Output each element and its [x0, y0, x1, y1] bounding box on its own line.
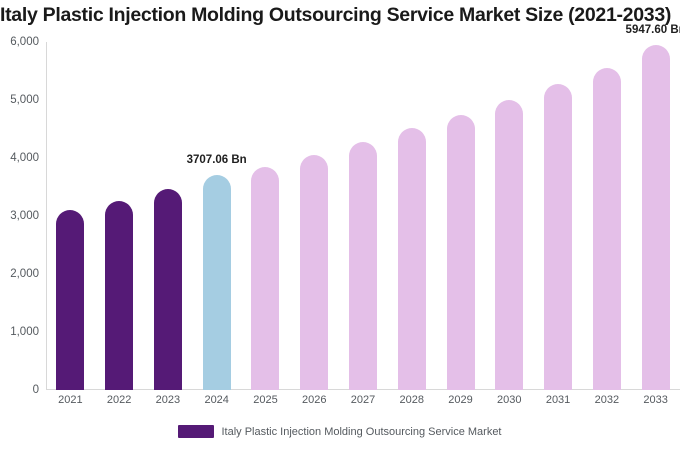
- bar-2029[interactable]: [447, 115, 475, 391]
- legend-swatch-icon: [178, 425, 214, 438]
- bar-2021[interactable]: [56, 210, 84, 390]
- chart-title: Italy Plastic Injection Molding Outsourc…: [0, 4, 680, 26]
- bar-2026[interactable]: [300, 155, 328, 390]
- y-axis-tick-label: 0: [33, 384, 39, 396]
- x-axis-tick-label: 2032: [595, 394, 619, 406]
- legend-item[interactable]: Italy Plastic Injection Molding Outsourc…: [178, 425, 501, 438]
- bar-slot: [251, 42, 279, 390]
- x-axis-tick-label: 2026: [302, 394, 326, 406]
- bar-value-label: 3707.06 Bn: [187, 154, 247, 166]
- bar-2025[interactable]: [251, 167, 279, 390]
- bar-2030[interactable]: [495, 100, 523, 390]
- bar-slot: [349, 42, 377, 390]
- bar-2032[interactable]: [593, 68, 621, 390]
- bar-2022[interactable]: [105, 201, 133, 390]
- y-axis-tick-label: 1,000: [10, 326, 39, 338]
- x-axis-tick-label: 2027: [351, 394, 375, 406]
- x-axis-tick-label: 2028: [400, 394, 424, 406]
- bar-slot: [154, 42, 182, 390]
- x-axis-tick-label: 2022: [107, 394, 131, 406]
- y-axis-tick-label: 5,000: [10, 94, 39, 106]
- bar-slot: [105, 42, 133, 390]
- legend-label: Italy Plastic Injection Molding Outsourc…: [221, 426, 501, 438]
- bar-value-label: 5947.60 Bn: [626, 24, 680, 36]
- bar-2028[interactable]: [398, 128, 426, 390]
- bar-2027[interactable]: [349, 142, 377, 390]
- x-axis-tick-label: 2025: [253, 394, 277, 406]
- bar-2023[interactable]: [154, 189, 182, 390]
- y-axis-tick-label: 3,000: [10, 210, 39, 222]
- x-axis-tick-label: 2023: [156, 394, 180, 406]
- bar-slot: [495, 42, 523, 390]
- x-axis-tick-label: 2030: [497, 394, 521, 406]
- x-axis-tick-label: 2024: [204, 394, 228, 406]
- x-axis-tick-label: 2029: [448, 394, 472, 406]
- plot-area: 3707.06 Bn5947.60 Bn 01,0002,0003,0004,0…: [46, 42, 680, 390]
- chart-legend: Italy Plastic Injection Molding Outsourc…: [0, 425, 680, 438]
- bar-slot: [56, 42, 84, 390]
- bar-slot: [544, 42, 572, 390]
- y-axis-tick-label: 2,000: [10, 268, 39, 280]
- bar-slot: [398, 42, 426, 390]
- x-axis-tick-label: 2031: [546, 394, 570, 406]
- bar-slot: 3707.06 Bn: [203, 42, 231, 390]
- bar-slot: [300, 42, 328, 390]
- bar-slot: [447, 42, 475, 390]
- bar-2024[interactable]: [203, 175, 231, 390]
- chart-container: Italy Plastic Injection Molding Outsourc…: [0, 0, 680, 450]
- y-axis-tick-label: 6,000: [10, 36, 39, 48]
- bar-slot: 5947.60 Bn: [642, 42, 670, 390]
- y-axis-tick-label: 4,000: [10, 152, 39, 164]
- bar-2031[interactable]: [544, 84, 572, 390]
- x-axis-tick-label: 2021: [58, 394, 82, 406]
- x-axis-tick-label: 2033: [643, 394, 667, 406]
- bar-slot: [593, 42, 621, 390]
- bar-2033[interactable]: [642, 45, 670, 390]
- bar-series: 3707.06 Bn5947.60 Bn: [46, 42, 680, 390]
